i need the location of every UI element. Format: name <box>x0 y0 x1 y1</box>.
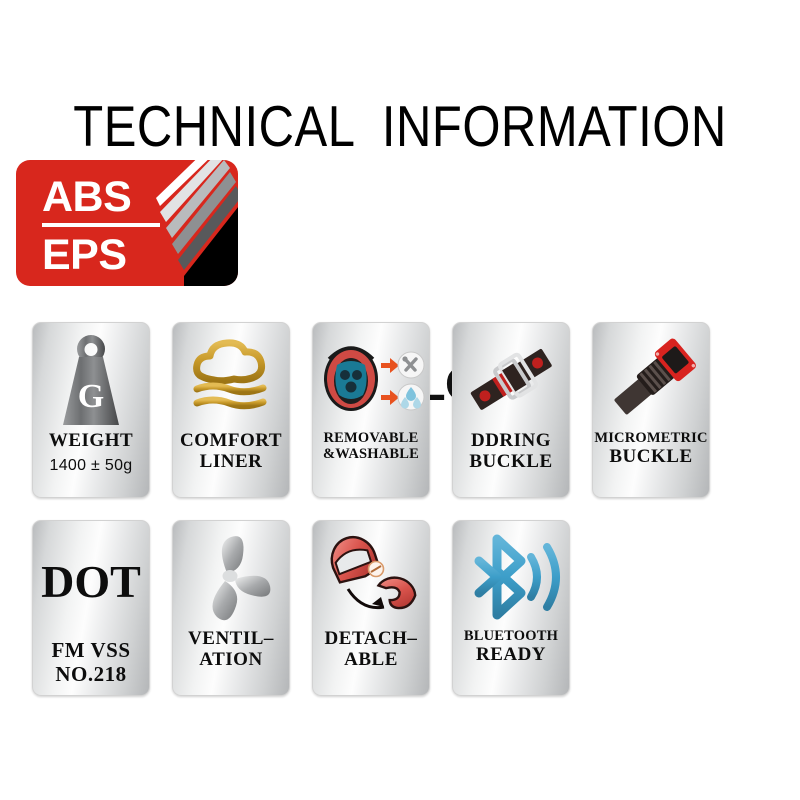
feature-card-dot-labels: FM VSS NO.218 <box>33 639 149 686</box>
micrometric-label-line2: BUCKLE <box>593 447 709 468</box>
weight-icon: G <box>45 327 137 431</box>
feature-card-removable-washable-labels: REMOVABLE &WASHABLE <box>313 431 429 462</box>
removable-label-line2: &WASHABLE <box>313 447 429 463</box>
detachable-label-line1: DETACH– <box>313 629 429 650</box>
comfort-liner-icon <box>183 331 279 427</box>
feature-card-comfort-liner[interactable]: COMFORT LINER <box>172 322 290 498</box>
micrometric-buckle-art <box>593 323 709 431</box>
ventilation-art <box>173 521 289 629</box>
feature-card-detachable-labels: DETACH– ABLE <box>313 629 429 670</box>
bluetooth-label-line2: READY <box>453 645 569 666</box>
weight-label: WEIGHT <box>33 431 149 452</box>
detachable-art <box>313 521 429 629</box>
comfort-label-line1: COMFORT <box>173 431 289 452</box>
ddring-buckle-art <box>453 323 569 431</box>
feature-row-2: DOT FM VSS NO.218 <box>32 520 772 696</box>
logo-row: ABS EPS PINLOCK® <box>0 160 800 290</box>
ddring-label-line1: DDRING <box>453 431 569 452</box>
micrometric-buckle-icon <box>601 329 701 429</box>
feature-row-1: G WEIGHT 1400 ± 50g <box>32 322 772 498</box>
ddring-buckle-icon <box>461 329 561 429</box>
feature-card-detachable[interactable]: DETACH– ABLE <box>312 520 430 696</box>
page-title: TECHNICAL INFORMATION <box>0 94 800 160</box>
feature-card-ddring-buckle-labels: DDRING BUCKLE <box>453 431 569 472</box>
bluetooth-label-line1: BLUETOOTH <box>453 629 569 645</box>
feature-card-grid: G WEIGHT 1400 ± 50g <box>32 322 772 718</box>
comfort-label-line2: LINER <box>173 452 289 473</box>
dot-label: DOT <box>41 559 141 605</box>
abs-eps-badge: ABS EPS <box>16 160 238 286</box>
feature-card-removable-washable[interactable]: REMOVABLE &WASHABLE <box>312 322 430 498</box>
removable-label-line1: REMOVABLE <box>313 431 429 447</box>
signal-arc-icon <box>531 557 537 597</box>
comfort-liner-art <box>173 323 289 431</box>
feature-card-weight[interactable]: G WEIGHT 1400 ± 50g <box>32 322 150 498</box>
feature-card-dot[interactable]: DOT FM VSS NO.218 <box>32 520 150 696</box>
feature-card-comfort-liner-labels: COMFORT LINER <box>173 431 289 472</box>
feature-card-ventilation-labels: VENTIL– ATION <box>173 629 289 670</box>
feature-card-bluetooth-ready[interactable]: BLUETOOTH READY <box>452 520 570 696</box>
feature-card-micrometric-buckle[interactable]: MICROMETRIC BUCKLE <box>592 322 710 498</box>
dot-art: DOT <box>33 521 149 639</box>
feature-card-micrometric-buckle-labels: MICROMETRIC BUCKLE <box>593 431 709 467</box>
micrometric-label-line1: MICROMETRIC <box>593 431 709 447</box>
feature-card-ddring-buckle[interactable]: DDRING BUCKLE <box>452 322 570 498</box>
bluetooth-art <box>453 521 569 629</box>
removable-washable-art <box>313 323 429 431</box>
removable-washable-icon <box>317 329 425 429</box>
fmvss-number: NO.218 <box>33 663 149 687</box>
arrow-right-icon <box>381 390 399 405</box>
feature-card-ventilation[interactable]: VENTIL– ATION <box>172 520 290 696</box>
weight-value: 1400 ± 50g <box>33 457 149 474</box>
ventilation-fan-icon <box>183 529 279 625</box>
arrow-right-icon <box>381 358 399 373</box>
ventilation-label-line2: ATION <box>173 650 289 671</box>
detachable-helmet-icon <box>320 527 422 627</box>
fmvss-label: FM VSS <box>33 639 149 663</box>
detachable-label-line2: ABLE <box>313 650 429 671</box>
bluetooth-ready-icon <box>461 529 561 625</box>
weight-icon-letter: G <box>78 378 104 415</box>
feature-card-weight-labels: WEIGHT 1400 ± 50g <box>33 431 149 474</box>
weight-art: G <box>33 323 149 431</box>
ventilation-label-line1: VENTIL– <box>173 629 289 650</box>
signal-arc-icon <box>547 547 556 607</box>
feature-card-bluetooth-ready-labels: BLUETOOTH READY <box>453 629 569 665</box>
layered-shell-icon <box>132 160 238 286</box>
ddring-label-line2: BUCKLE <box>453 452 569 473</box>
